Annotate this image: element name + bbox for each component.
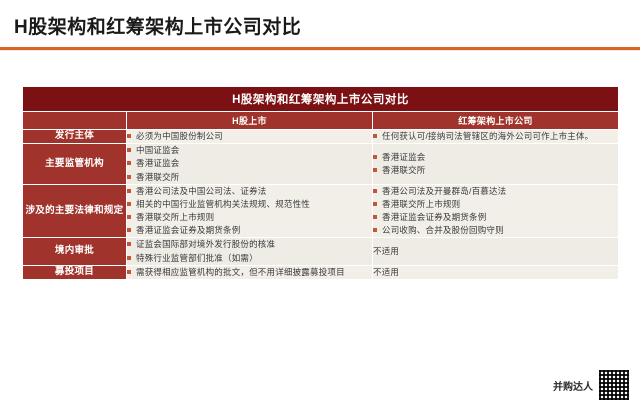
cell-laws-r: 香港公司法及开曼群岛/百慕达法 香港联交所上市规则 香港证监会证券及期货条例 公… bbox=[373, 184, 619, 238]
list-item: 香港联交所 bbox=[373, 164, 618, 177]
list-item: 特殊行业监管部们批准（如需） bbox=[127, 252, 372, 265]
bullet-icon bbox=[127, 228, 131, 232]
cell-issuer-h: 必须为中国股份制公司 bbox=[127, 130, 373, 144]
bullet-icon bbox=[127, 148, 131, 152]
bullet-icon bbox=[373, 202, 377, 206]
list-item: 中国证监会 bbox=[127, 144, 372, 157]
table-row: 发行主体 必须为中国股份制公司 任何获认可/接纳司法管辖区的海外公司可作上市主体… bbox=[23, 130, 619, 144]
cell-issuer-r: 任何获认可/接纳司法管辖区的海外公司可作上市主体。 bbox=[373, 130, 619, 144]
bullet-icon bbox=[127, 242, 131, 246]
bullet-icon bbox=[127, 134, 131, 138]
cell-text: 不适用 bbox=[373, 245, 618, 258]
list-item: 香港联交所上市规则 bbox=[127, 211, 372, 224]
bullet-icon bbox=[373, 215, 377, 219]
list-item-text: 中国证监会 bbox=[136, 145, 180, 155]
list-item-text: 公司收购、合并及股份回购守则 bbox=[382, 225, 504, 235]
list-item: 香港证监会 bbox=[373, 151, 618, 164]
header-red-chip: 红筹架构上市公司 bbox=[373, 112, 619, 130]
table-row: 涉及的主要法律和规定 香港公司法及中国公司法、证券法 相关的中国行业监管机构关法… bbox=[23, 184, 619, 238]
bullet-icon bbox=[373, 228, 377, 232]
list-item: 香港联交所 bbox=[127, 171, 372, 184]
list-item: 公司收购、合并及股份回购守则 bbox=[373, 224, 618, 237]
bullet-icon bbox=[373, 134, 377, 138]
list-item: 香港公司法及开曼群岛/百慕达法 bbox=[373, 185, 618, 198]
list-item: 需获得相应监管机构的批文，但不用详细披露募投项目 bbox=[127, 266, 372, 279]
bullet-icon bbox=[373, 189, 377, 193]
watermark: 并购达人 bbox=[553, 369, 630, 401]
list-item: 香港证监会证券及期货条例 bbox=[373, 211, 618, 224]
list-item-text: 香港联交所 bbox=[382, 165, 426, 175]
list-item: 香港证监会 bbox=[127, 157, 372, 170]
comparison-table: H股架构和红筹架构上市公司对比 H股上市 红筹架构上市公司 发行主体 必须为中国… bbox=[22, 86, 619, 280]
row-label-issuer: 发行主体 bbox=[23, 130, 127, 144]
bullet-icon bbox=[127, 270, 131, 274]
list-item: 香港联交所上市规则 bbox=[373, 198, 618, 211]
list-item-text: 任何获认可/接纳司法管辖区的海外公司可作上市主体。 bbox=[382, 131, 593, 141]
cell-domestic-approval-r: 不适用 bbox=[373, 238, 619, 265]
list-item: 证监会国际部对境外发行股份的核准 bbox=[127, 238, 372, 251]
row-label-domestic-approval: 境内审批 bbox=[23, 238, 127, 265]
header-corner bbox=[23, 112, 127, 130]
cell-domestic-approval-h: 证监会国际部对境外发行股份的核准 特殊行业监管部们批准（如需） bbox=[127, 238, 373, 265]
bullet-icon bbox=[127, 215, 131, 219]
list-item-text: 香港公司法及中国公司法、证券法 bbox=[136, 186, 267, 196]
bullet-icon bbox=[127, 202, 131, 206]
list-item-text: 必须为中国股份制公司 bbox=[136, 131, 223, 141]
table-caption: H股架构和红筹架构上市公司对比 bbox=[23, 87, 619, 112]
bullet-icon bbox=[373, 168, 377, 172]
table-row: 境内审批 证监会国际部对境外发行股份的核准 特殊行业监管部们批准（如需） 不适用 bbox=[23, 238, 619, 265]
comparison-table-wrapper: H股架构和红筹架构上市公司对比 H股上市 红筹架构上市公司 发行主体 必须为中国… bbox=[22, 86, 618, 280]
list-item-text: 香港证监会 bbox=[382, 152, 426, 162]
qr-code-icon bbox=[598, 369, 630, 401]
cell-use-of-proceeds-h: 需获得相应监管机构的批文，但不用详细披露募投项目 bbox=[127, 265, 373, 279]
list-item-text: 香港证监会 bbox=[136, 158, 180, 168]
cell-text: 不适用 bbox=[373, 266, 618, 279]
list-item-text: 香港证监会证券及期货条例 bbox=[136, 225, 240, 235]
cell-laws-h: 香港公司法及中国公司法、证券法 相关的中国行业监管机构关法规规、规范性性 香港联… bbox=[127, 184, 373, 238]
cell-regulators-r: 香港证监会 香港联交所 bbox=[373, 144, 619, 185]
cell-regulators-h: 中国证监会 香港证监会 香港联交所 bbox=[127, 144, 373, 185]
list-item-text: 需获得相应监管机构的批文，但不用详细披露募投项目 bbox=[136, 267, 345, 277]
list-item-text: 相关的中国行业监管机构关法规规、规范性性 bbox=[136, 199, 310, 209]
bullet-icon bbox=[127, 189, 131, 193]
list-item-text: 特殊行业监管部们批准（如需） bbox=[136, 253, 258, 263]
list-item: 相关的中国行业监管机构关法规规、规范性性 bbox=[127, 198, 372, 211]
row-label-regulators: 主要监管机构 bbox=[23, 144, 127, 185]
bullet-icon bbox=[127, 256, 131, 260]
table-row: 主要监管机构 中国证监会 香港证监会 香港联交所 香港证监会 香港联交所 bbox=[23, 144, 619, 185]
list-item-text: 香港联交所 bbox=[136, 172, 180, 182]
account-name: 并购达人 bbox=[553, 378, 593, 393]
list-item: 香港公司法及中国公司法、证券法 bbox=[127, 185, 372, 198]
list-item: 香港证监会证券及期货条例 bbox=[127, 224, 372, 237]
cell-use-of-proceeds-r: 不适用 bbox=[373, 265, 619, 279]
bullet-icon bbox=[127, 161, 131, 165]
header-h-shares: H股上市 bbox=[127, 112, 373, 130]
bullet-icon bbox=[373, 155, 377, 159]
list-item-text: 香港联交所上市规则 bbox=[136, 212, 214, 222]
table-header-row: H股上市 红筹架构上市公司 bbox=[23, 112, 619, 130]
row-label-use-of-proceeds: 募投项目 bbox=[23, 265, 127, 279]
list-item: 任何获认可/接纳司法管辖区的海外公司可作上市主体。 bbox=[373, 130, 618, 143]
table-caption-row: H股架构和红筹架构上市公司对比 bbox=[23, 87, 619, 112]
row-label-laws: 涉及的主要法律和规定 bbox=[23, 184, 127, 238]
bullet-icon bbox=[127, 175, 131, 179]
list-item-text: 香港联交所上市规则 bbox=[382, 199, 460, 209]
title-divider bbox=[0, 50, 640, 51]
list-item: 必须为中国股份制公司 bbox=[127, 130, 372, 143]
list-item-text: 香港证监会证券及期货条例 bbox=[382, 212, 486, 222]
table-row: 募投项目 需获得相应监管机构的批文，但不用详细披露募投项目 不适用 bbox=[23, 265, 619, 279]
list-item-text: 证监会国际部对境外发行股份的核准 bbox=[136, 239, 275, 249]
list-item-text: 香港公司法及开曼群岛/百慕达法 bbox=[382, 186, 506, 196]
page-title: H股架构和红筹架构上市公司对比 bbox=[14, 12, 301, 39]
